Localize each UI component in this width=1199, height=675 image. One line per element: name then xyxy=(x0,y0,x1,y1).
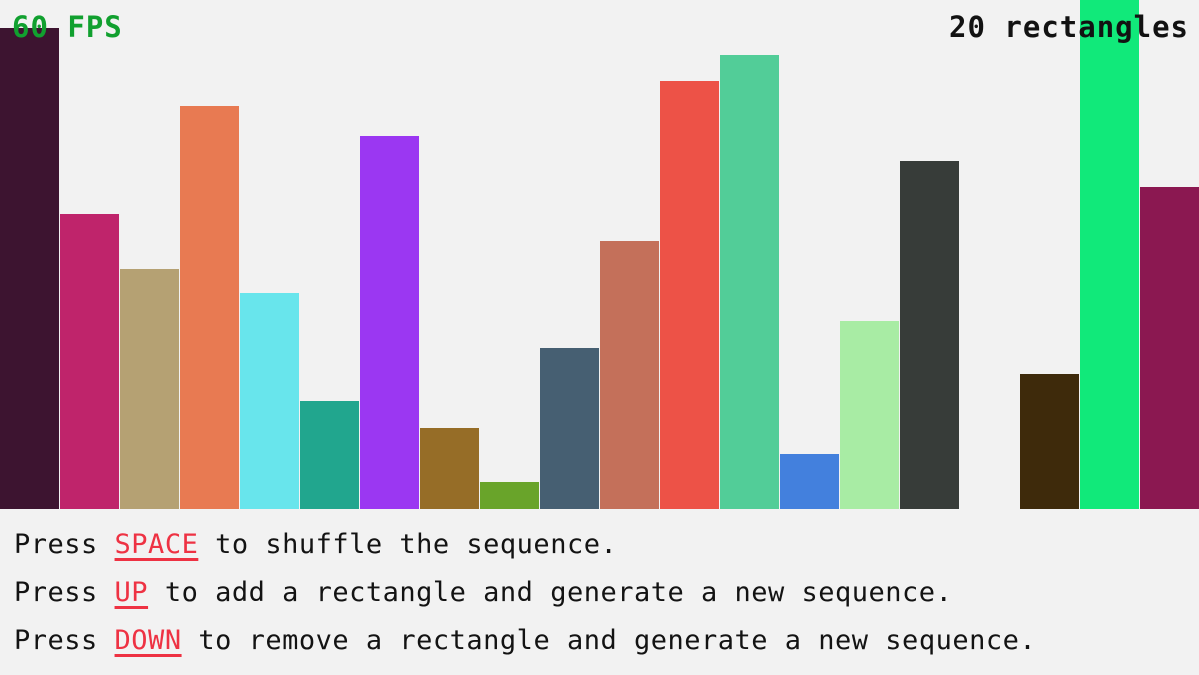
bar-mint-green xyxy=(720,55,779,509)
bar-bright-green xyxy=(1080,0,1139,509)
instruction-prefix: Press xyxy=(14,625,115,656)
bar-purple xyxy=(360,136,419,509)
instruction-line-3: Press DOWN to remove a rectangle and gen… xyxy=(14,617,1199,665)
bar-brick xyxy=(600,241,659,509)
bar-orange xyxy=(180,106,239,509)
instruction-prefix: Press xyxy=(14,529,115,560)
instruction-line-1: Press SPACE to shuffle the sequence. xyxy=(14,521,1199,569)
bar-dark-brown xyxy=(1020,374,1079,509)
key-hint-down[interactable]: DOWN xyxy=(115,625,182,656)
bar-dark-plum xyxy=(0,28,59,509)
instructions-panel: Press SPACE to shuffle the sequence.Pres… xyxy=(0,509,1199,675)
instruction-suffix: to remove a rectangle and generate a new… xyxy=(182,625,1037,656)
fps-counter: 60 FPS xyxy=(12,13,123,42)
bar-red xyxy=(660,81,719,509)
bar-magenta xyxy=(60,214,119,509)
bar-slate-blue xyxy=(540,348,599,509)
bar-light-green xyxy=(840,321,899,509)
instruction-prefix: Press xyxy=(14,577,115,608)
rectangle-count-label: 20 rectangles xyxy=(949,13,1189,42)
bar-olive-green xyxy=(480,482,539,509)
bar-charcoal xyxy=(900,161,959,509)
bar-cyan xyxy=(240,293,299,509)
bar-dark-magenta xyxy=(1140,187,1199,509)
rectangle-shuffle-app: 60 FPS 20 rectangles Press SPACE to shuf… xyxy=(0,0,1199,675)
bar-chart xyxy=(0,0,1199,509)
bar-tan xyxy=(120,269,179,509)
key-hint-up[interactable]: UP xyxy=(115,577,149,608)
key-hint-space[interactable]: SPACE xyxy=(115,529,199,560)
bar-blue xyxy=(780,454,839,509)
bar-brown-gold xyxy=(420,428,479,509)
bar-teal xyxy=(300,401,359,509)
instruction-line-2: Press UP to add a rectangle and generate… xyxy=(14,569,1199,617)
instruction-suffix: to shuffle the sequence. xyxy=(198,529,617,560)
instruction-suffix: to add a rectangle and generate a new se… xyxy=(148,577,952,608)
